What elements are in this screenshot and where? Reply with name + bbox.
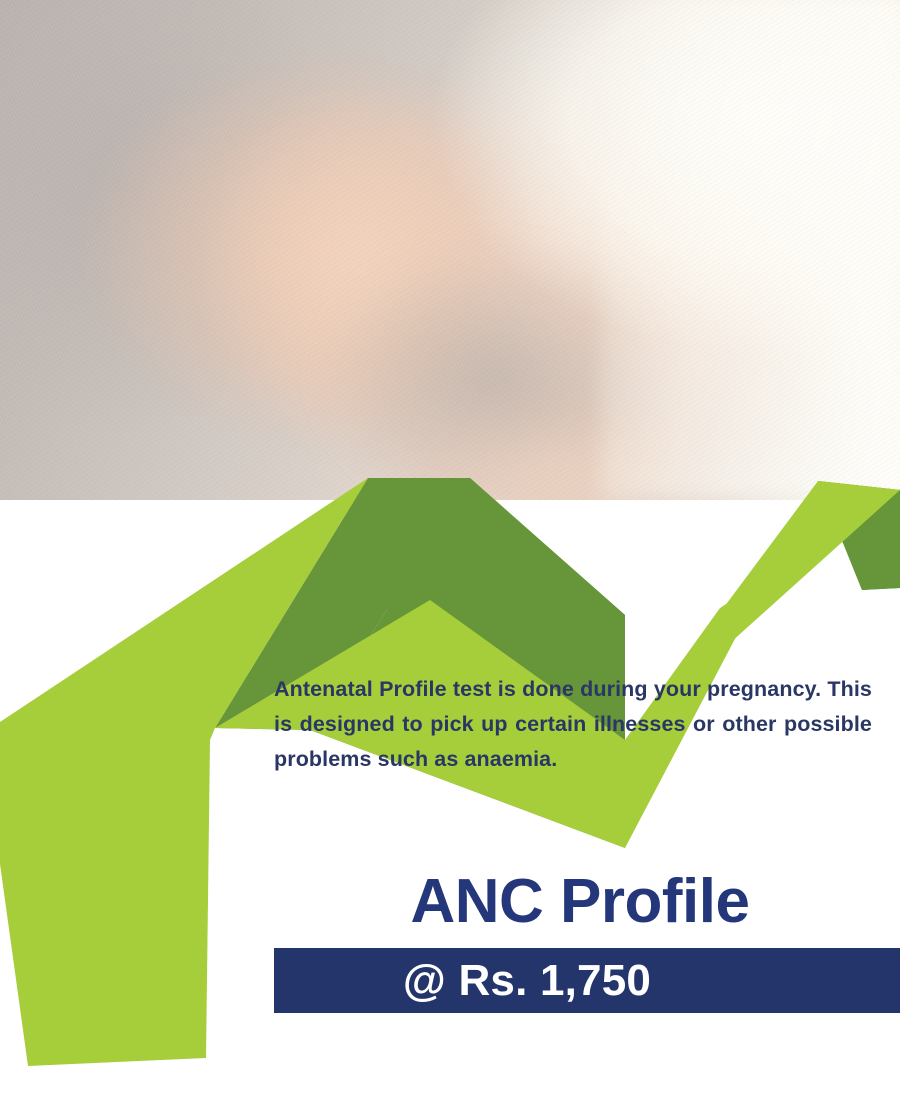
page-title: ANC Profile bbox=[274, 866, 886, 938]
price-label: @ Rs. 1,750 bbox=[403, 958, 771, 1004]
anc-profile-flyer: Antenatal Profile test is done during yo… bbox=[0, 0, 900, 1093]
hero-photo-fabric-texture bbox=[0, 0, 900, 500]
description-copy: Antenatal Profile test is done during yo… bbox=[274, 677, 872, 771]
hero-photo bbox=[0, 0, 900, 500]
price-banner: @ Rs. 1,750 bbox=[274, 948, 900, 1013]
description-text: Antenatal Profile test is done during yo… bbox=[274, 672, 872, 777]
